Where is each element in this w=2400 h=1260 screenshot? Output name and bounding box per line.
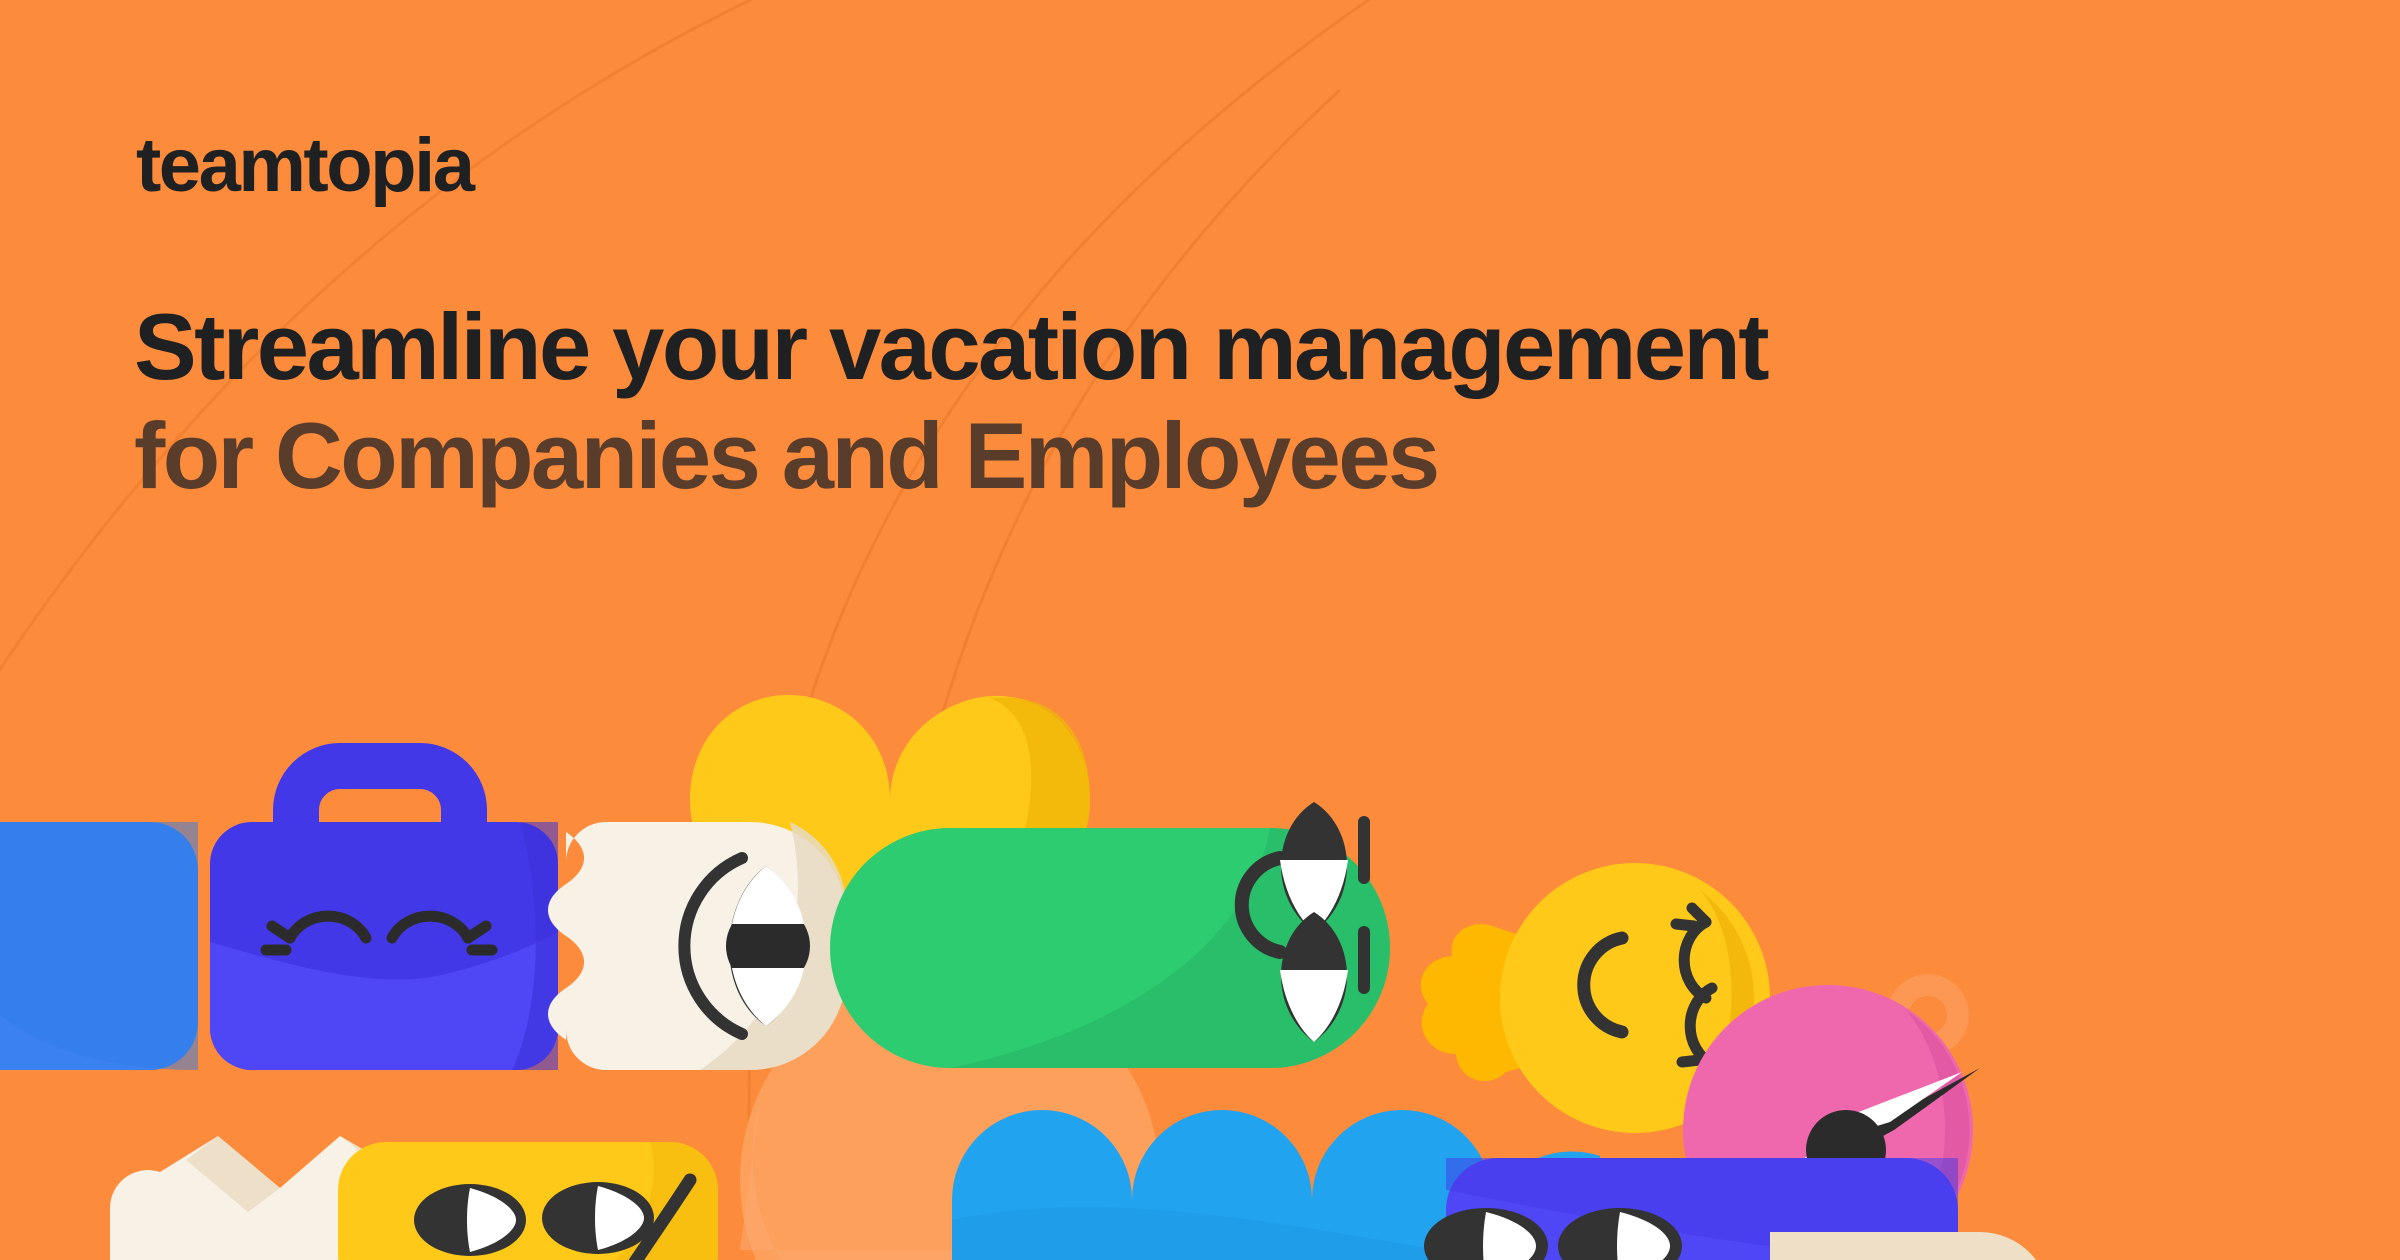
cream-capsule-character xyxy=(1770,1232,2050,1260)
page-title: Streamline your vacation management for … xyxy=(134,292,1894,510)
green-pill-character xyxy=(830,802,1390,1068)
headline-secondary: for Companies and Employees xyxy=(134,403,1438,508)
brand-logo[interactable]: teamtopia xyxy=(136,128,472,204)
cream-eye-block-character xyxy=(548,822,846,1070)
blue-rounded-square-character xyxy=(0,822,198,1070)
hero-banner: teamtopia Streamline your vacation manag… xyxy=(0,0,2400,1260)
yellow-square-face-character xyxy=(338,1142,718,1260)
character-illustration xyxy=(0,560,2400,1260)
briefcase-character xyxy=(210,766,558,1070)
headline-primary: Streamline your vacation management xyxy=(134,294,1767,399)
